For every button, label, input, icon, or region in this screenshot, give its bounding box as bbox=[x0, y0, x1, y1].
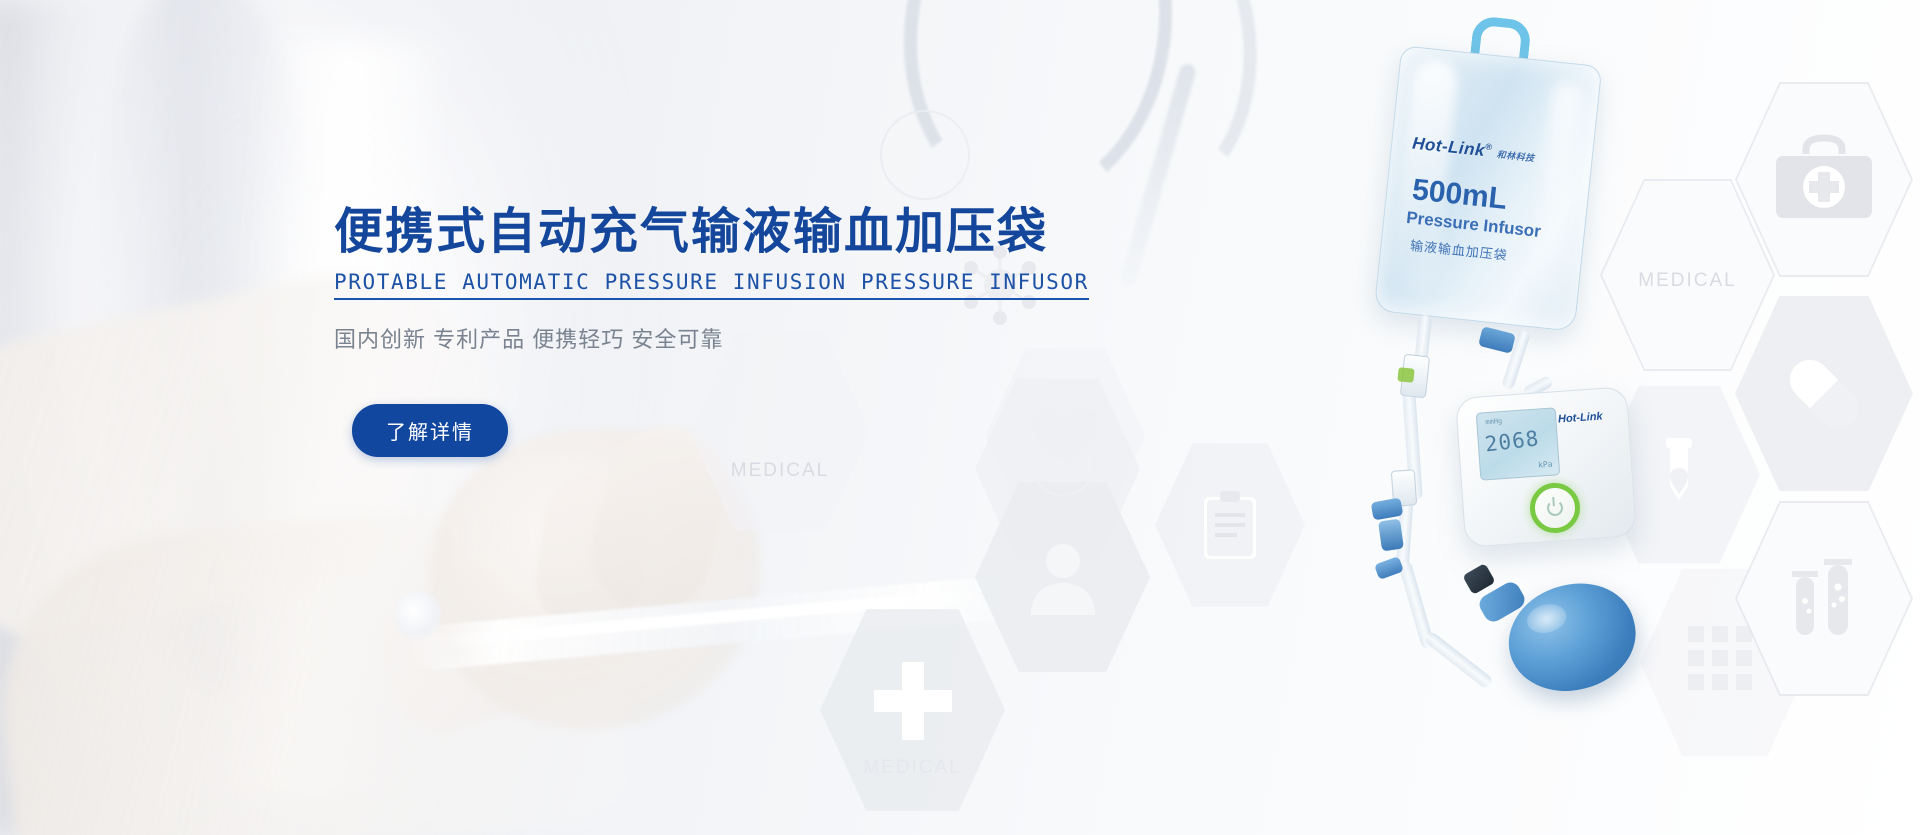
bag-highlight-right bbox=[1531, 80, 1583, 297]
product-image: Hot-Link®和林科技 500mL Pressure Infusor 输液输… bbox=[1080, 0, 1920, 835]
product-hero-banner: MEDICAL bbox=[0, 0, 1920, 835]
tube-connector-green bbox=[1397, 367, 1414, 383]
power-icon bbox=[1546, 499, 1563, 516]
feature-tagline: 国内创新 专利产品 便携轻巧 安全可靠 bbox=[334, 322, 1089, 354]
bag-brand-cn: 和林科技 bbox=[1496, 149, 1535, 163]
bulb-highlight bbox=[1524, 600, 1570, 637]
bulb-valve bbox=[1462, 563, 1496, 595]
tube-clamp-blue-lower bbox=[1374, 556, 1404, 580]
lcd-unit: kPa bbox=[1538, 460, 1553, 470]
learn-more-button[interactable]: 了解详情 bbox=[352, 404, 508, 457]
subtitle-underline: PROTABLE AUTOMATIC PRESSURE INFUSION PRE… bbox=[334, 270, 1089, 300]
page-subtitle: PROTABLE AUTOMATIC PRESSURE INFUSION PRE… bbox=[334, 270, 1089, 294]
iv-tube-bulb-link bbox=[1423, 630, 1494, 689]
bag-brand-mark: ® bbox=[1485, 142, 1493, 153]
roller-clamp bbox=[1378, 519, 1404, 552]
lcd-value: 2068 bbox=[1484, 426, 1541, 456]
hero-text-block: 便携式自动充气输液输血加压袋 PROTABLE AUTOMATIC PRESSU… bbox=[334, 205, 1089, 457]
page-title: 便携式自动充气输液输血加压袋 bbox=[334, 205, 1089, 260]
glass-rod-tip bbox=[395, 592, 441, 638]
tube-clamp-blue-upper bbox=[1478, 326, 1516, 354]
lcd-small-label: mmHg bbox=[1485, 417, 1502, 426]
pump-lcd-screen: mmHg 2068 kPa bbox=[1476, 407, 1561, 480]
